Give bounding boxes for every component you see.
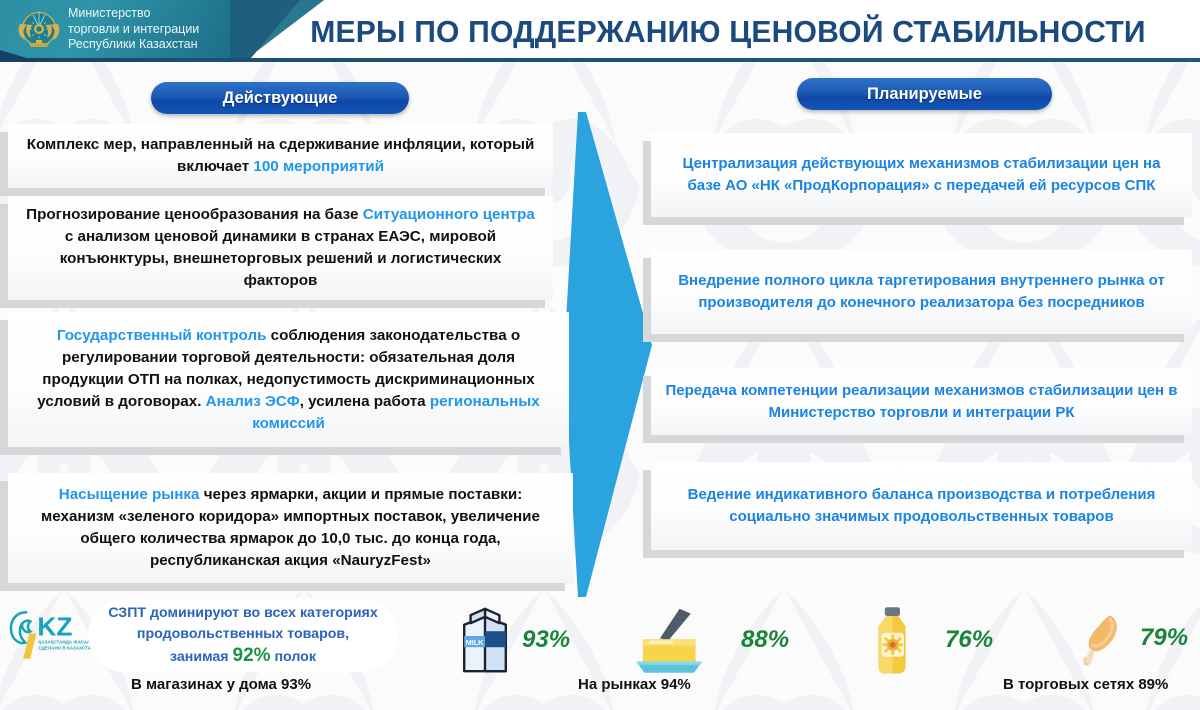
text-segment-1: 100 мероприятий: [253, 158, 384, 175]
made-in-kazakhstan-logo: KZ ҚАЗАҚСТАНДА ЖАСАЛҒАН СДЕЛАНО В КАЗАХС…: [6, 606, 92, 664]
measure-text: Ведение индикативного баланса производст…: [665, 484, 1178, 528]
measure-text: Централизация действующих механизмов ста…: [665, 153, 1178, 197]
measure-text: Комплекс мер, направленный на сдерживани…: [22, 134, 539, 178]
header-underline: [0, 58, 1200, 62]
milk-carton-icon: MILK: [452, 604, 518, 676]
measure-text: Внедрение полного цикла таргетирования в…: [665, 270, 1178, 314]
chicken-leg-icon: [1075, 610, 1127, 672]
shelf-share-percent: 92%: [233, 645, 271, 666]
caption-home-stores: В магазинах у дома 93%: [131, 676, 311, 693]
percent-milk: 93%: [522, 626, 570, 654]
text-segment-3: , усилена работа: [300, 393, 430, 410]
section-header-planned[interactable]: Планируемые: [797, 78, 1052, 110]
page-header: Министерство торговли и интеграции Респу…: [0, 0, 1200, 62]
text-segment-1: Ситуационного центра: [363, 206, 535, 223]
shelf-share-capsule[interactable]: СЗПТ доминируют во всех категориях продо…: [88, 599, 398, 672]
ministry-line-2: торговли и интеграции: [68, 22, 248, 38]
svg-text:ҚАЗАҚСТАНДА ЖАСАЛҒАН: ҚАЗАҚСТАНДА ЖАСАЛҒАН: [38, 640, 92, 645]
measure-box-left-4[interactable]: Насыщение рынка через ярмарки, акции и п…: [8, 473, 573, 583]
measure-box-right-2[interactable]: Внедрение полного цикла таргетирования в…: [651, 250, 1192, 334]
ministry-line-3: Республики Казахстан: [68, 37, 248, 53]
text-segment-0: Прогнозирование ценообразования на базе: [26, 206, 363, 223]
measure-text: Прогнозирование ценообразования на базе …: [22, 204, 539, 292]
section-header-current[interactable]: Действующие: [151, 82, 409, 114]
ministry-line-1: Министерство: [68, 6, 248, 22]
ministry-name: Министерство торговли и интеграции Респу…: [68, 6, 248, 53]
svg-text:KZ: KZ: [37, 612, 72, 642]
measure-text: Насыщение рынка через ярмарки, акции и п…: [22, 484, 559, 572]
text-segment-0: Государственный контроль: [57, 327, 267, 344]
caption-markets: На рынках 94%: [578, 676, 691, 693]
measure-box-left-1[interactable]: Комплекс мер, направленный на сдерживани…: [8, 124, 553, 188]
percent-oil: 76%: [945, 626, 993, 654]
shelf-share-text: СЗПТ доминируют во всех категориях продо…: [106, 603, 380, 668]
bottom-statistics-strip: KZ ҚАЗАҚСТАНДА ЖАСАЛҒАН СДЕЛАНО В КАЗАХС…: [0, 596, 1200, 710]
measure-text: Государственный контроль соблюдения зако…: [22, 325, 555, 435]
measure-text: Передача компетенции реализации механизм…: [665, 380, 1178, 424]
milk-label: MILK: [466, 638, 484, 647]
measure-box-right-3[interactable]: Передача компетенции реализации механизм…: [651, 368, 1192, 435]
text-segment-2: с анализом ценовой динамики в странах ЕА…: [60, 228, 502, 289]
shelf-share-part2: полок: [271, 649, 316, 665]
percent-butter: 88%: [741, 626, 789, 654]
page-title: МЕРЫ ПО ПОДДЕРЖАНИЮ ЦЕНОВОЙ СТАБИЛЬНОСТИ: [270, 10, 1186, 54]
svg-text:СДЕЛАНО В КАЗАХСТАНЕ: СДЕЛАНО В КАЗАХСТАНЕ: [38, 646, 92, 651]
kazakhstan-emblem-icon: [14, 4, 64, 54]
text-segment-0: Насыщение рынка: [59, 486, 200, 503]
butter-with-knife-icon: [630, 604, 710, 676]
measure-box-left-3[interactable]: Государственный контроль соблюдения зако…: [8, 312, 569, 447]
measure-box-right-1[interactable]: Централизация действующих механизмов ста…: [651, 133, 1192, 217]
measure-box-right-4[interactable]: Ведение индикативного баланса производст…: [651, 462, 1192, 550]
caption-retail-chains: В торговых сетях 89%: [1003, 676, 1168, 693]
text-segment-2: Анализ ЭСФ: [206, 393, 300, 410]
percent-meat: 79%: [1140, 624, 1188, 652]
measure-box-left-2[interactable]: Прогнозирование ценообразования на базе …: [8, 196, 553, 300]
sunflower-oil-bottle-icon: [862, 604, 922, 676]
